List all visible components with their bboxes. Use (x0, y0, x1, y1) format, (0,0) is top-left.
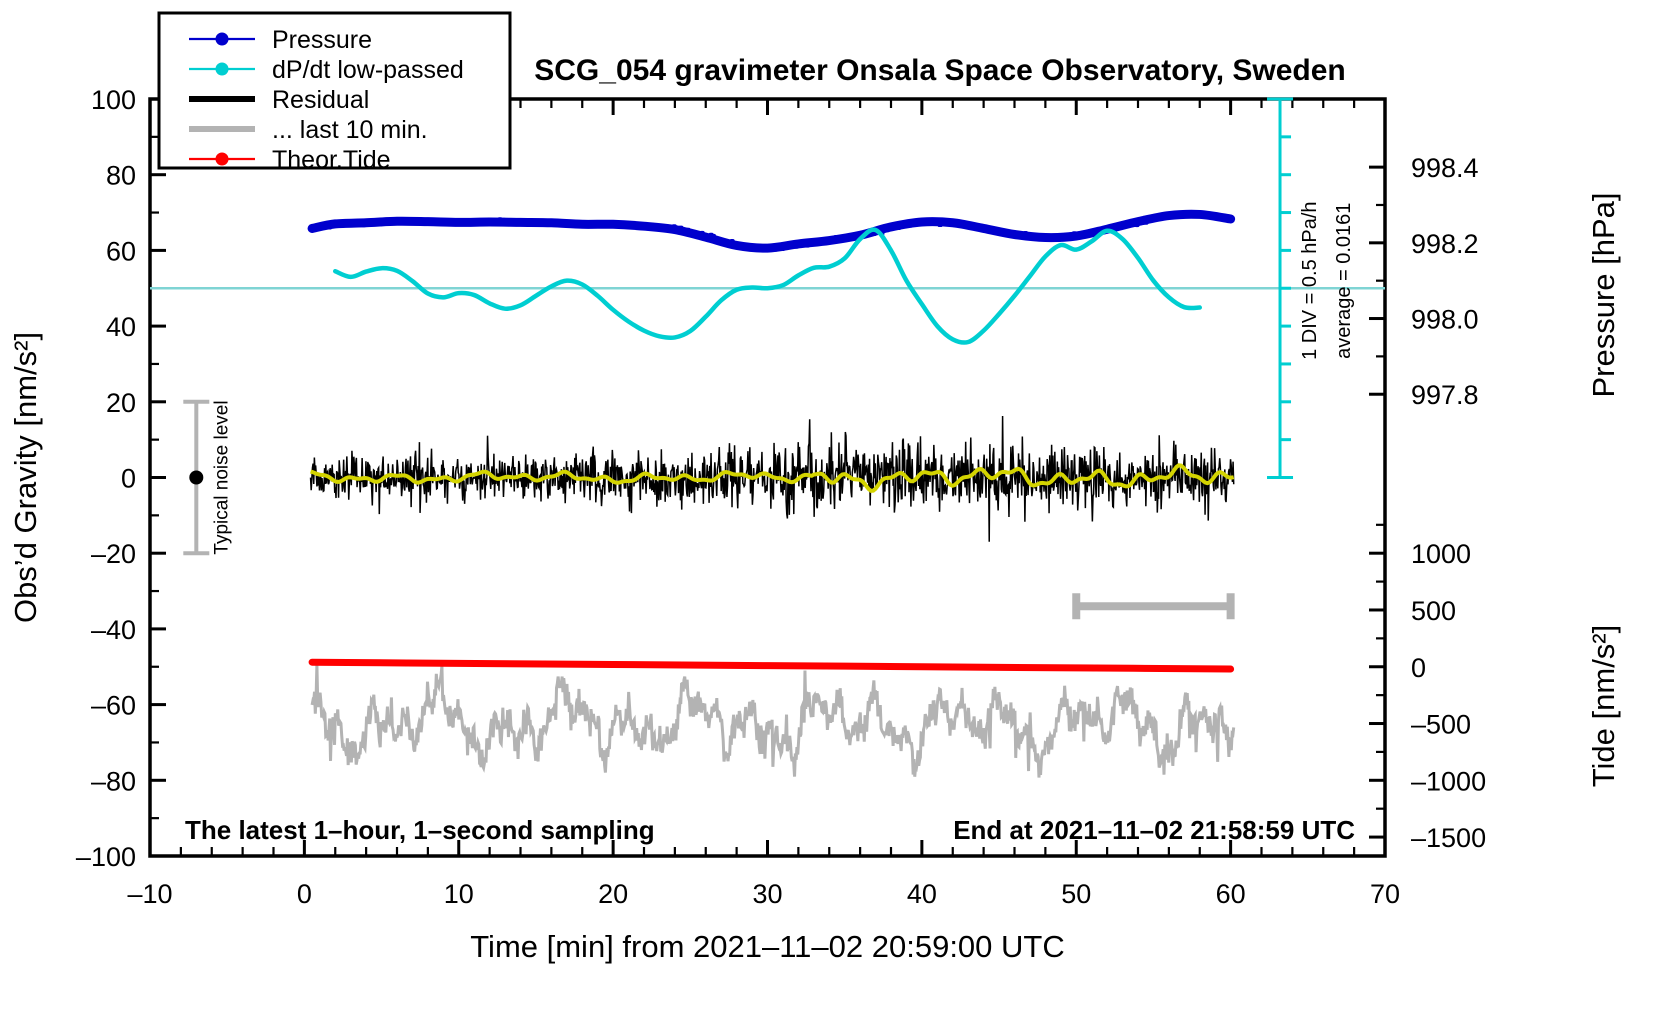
tide-tick-label: 0 (1411, 653, 1426, 683)
x-tick-label: 60 (1216, 879, 1246, 909)
legend-item-label: Residual (272, 86, 369, 114)
tide-observed-trace (312, 664, 1234, 777)
tide-tick-label: 500 (1411, 596, 1456, 626)
tide-tick-label: –1000 (1411, 766, 1486, 796)
tide-tick-label: 1000 (1411, 539, 1471, 569)
y-tick-label: –80 (91, 766, 136, 796)
y-tick-label: –60 (91, 691, 136, 721)
y-tick-label: –100 (76, 842, 136, 872)
legend-swatch-marker (216, 33, 229, 46)
pressure-tick-label: 998.0 (1411, 305, 1479, 335)
div-label: 1 DIV = 0.5 hPa/h (1299, 201, 1321, 359)
page-title: SCG_054 gravimeter Onsala Space Observat… (534, 54, 1346, 87)
legend-swatch-marker (216, 153, 229, 166)
pressure-tick-label: 997.8 (1411, 380, 1479, 410)
y-tick-label: 40 (106, 312, 136, 342)
x-tick-label: 30 (752, 879, 782, 909)
x-axis-title: Time [min] from 2021–11–02 20:59:00 UTC (470, 929, 1064, 964)
y-right-pressure-title: Pressure [hPa] (1586, 192, 1621, 397)
x-tick-label: –10 (127, 879, 172, 909)
y-right-tide-title: Tide [nm/s²] (1586, 625, 1621, 788)
x-tick-label: 20 (598, 879, 628, 909)
x-tick-label: 50 (1061, 879, 1091, 909)
y-tick-label: 60 (106, 236, 136, 266)
x-tick-label: 10 (444, 879, 474, 909)
y-tick-label: –40 (91, 615, 136, 645)
average-label: average = 0.0161 (1333, 203, 1355, 359)
x-tick-label: 70 (1370, 879, 1400, 909)
legend-item-label: dP/dt low-passed (272, 56, 464, 84)
y-left-axis-title: Obs’d Gravity [nm/s²] (8, 332, 43, 623)
tide-tick-label: –1500 (1411, 823, 1486, 853)
annotation-bottom-left: The latest 1–hour, 1–second sampling (185, 815, 655, 845)
noise-level-label: Typical noise level (211, 400, 232, 554)
annotation-bottom-right: End at 2021–11–02 21:58:59 UTC (953, 815, 1355, 845)
x-tick-label: 40 (907, 879, 937, 909)
gravimeter-chart: –10010203040506070Time [min] from 2021–1… (0, 0, 1660, 1020)
tide-tick-label: –500 (1411, 710, 1471, 740)
y-tick-label: 0 (121, 464, 136, 494)
y-tick-label: 80 (106, 161, 136, 191)
x-tick-label: 0 (297, 879, 312, 909)
pressure-tick-label: 998.2 (1411, 229, 1479, 259)
y-tick-label: –20 (91, 539, 136, 569)
legend-item-label: ... last 10 min. (272, 116, 428, 144)
pressure-tick-label: 998.4 (1411, 153, 1479, 183)
chart-root: –10010203040506070Time [min] from 2021–1… (0, 0, 1660, 1020)
y-tick-label: 20 (106, 388, 136, 418)
y-tick-label: 100 (91, 85, 136, 115)
noise-center-dot (189, 471, 203, 485)
legend-swatch-marker (216, 63, 229, 76)
legend-item-label: Pressure (272, 26, 372, 54)
legend-item-label: Theor.Tide (272, 146, 391, 174)
theor-tide-trace (312, 662, 1231, 669)
